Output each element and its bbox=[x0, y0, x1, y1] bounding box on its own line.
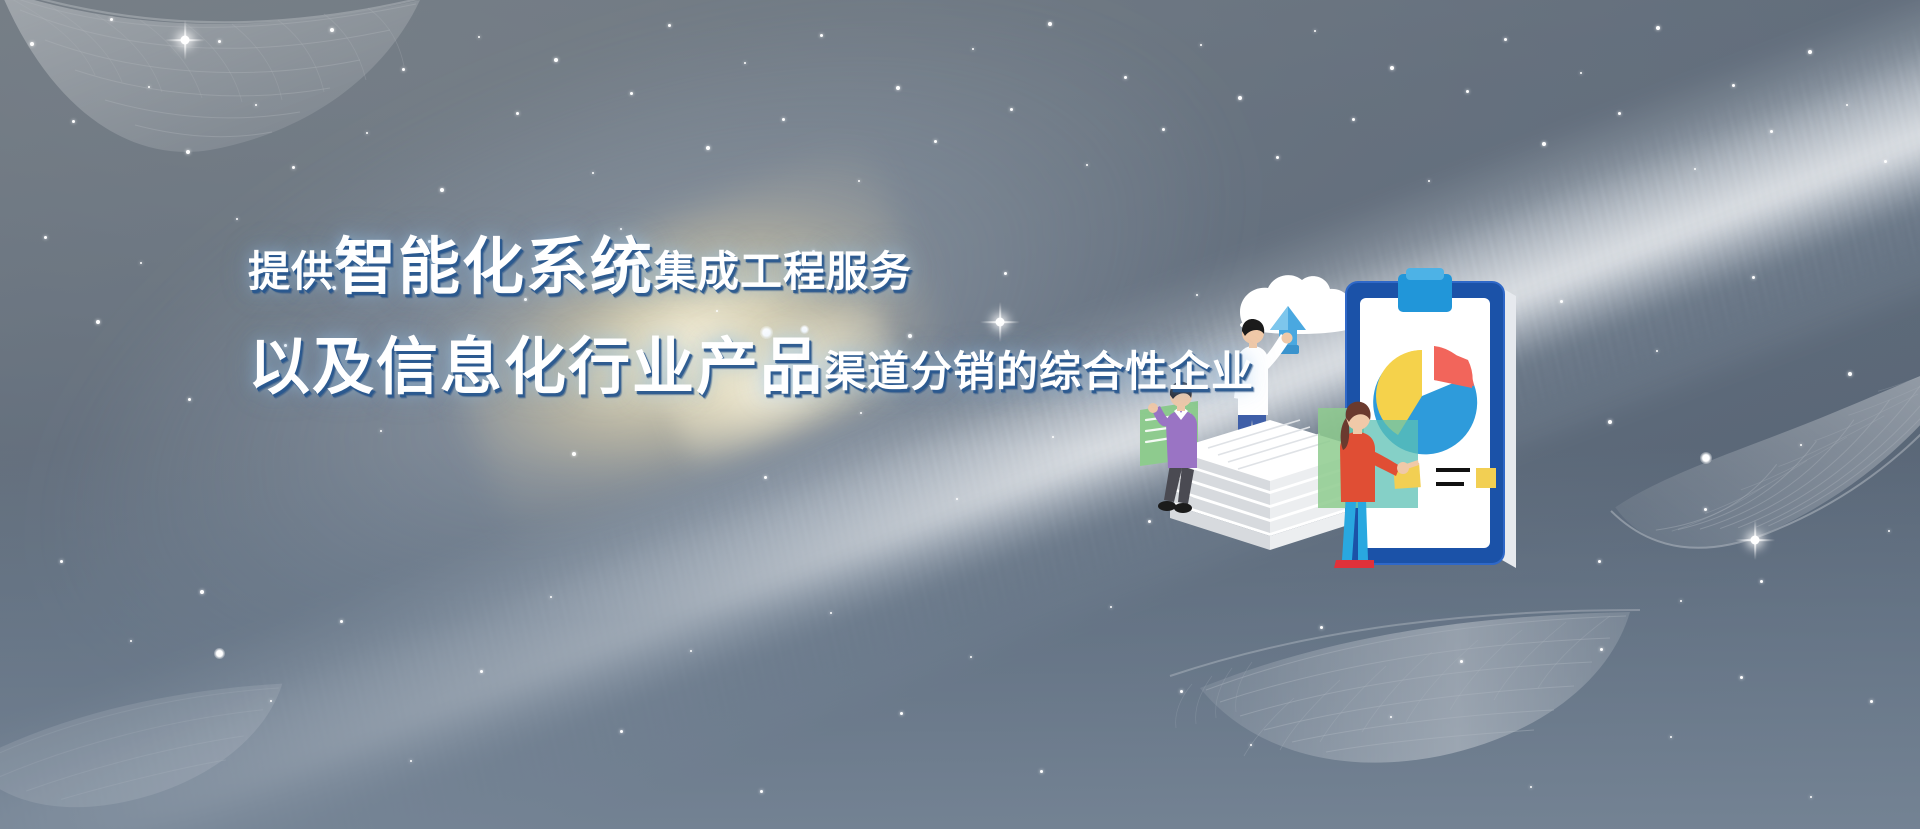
headline-line-1: 提供 智能化系统 集成工程服务 bbox=[248, 236, 1254, 298]
headline-line1-tail: 集成工程服务 bbox=[654, 251, 912, 293]
bright-star-d bbox=[214, 648, 225, 659]
headline-line1-lead: 提供 bbox=[248, 251, 334, 293]
headline-line1-emphasis: 智能化系统 bbox=[334, 236, 654, 298]
headline-line2-emphasis: 以及信息化行业产品 bbox=[248, 336, 824, 398]
star-field-lower bbox=[0, 0, 1920, 829]
headline-line-2: 以及信息化行业产品 渠道分销的综合性企业 bbox=[248, 336, 1254, 398]
hero-banner: 提供 智能化系统 集成工程服务 以及信息化行业产品 渠道分销的综合性企业 bbox=[0, 0, 1920, 829]
headline-block: 提供 智能化系统 集成工程服务 以及信息化行业产品 渠道分销的综合性企业 bbox=[248, 236, 1254, 398]
yellow-note-right-icon bbox=[1476, 468, 1496, 488]
headline-line2-tail: 渠道分销的综合性企业 bbox=[824, 351, 1254, 393]
bright-star-c bbox=[1700, 452, 1712, 464]
